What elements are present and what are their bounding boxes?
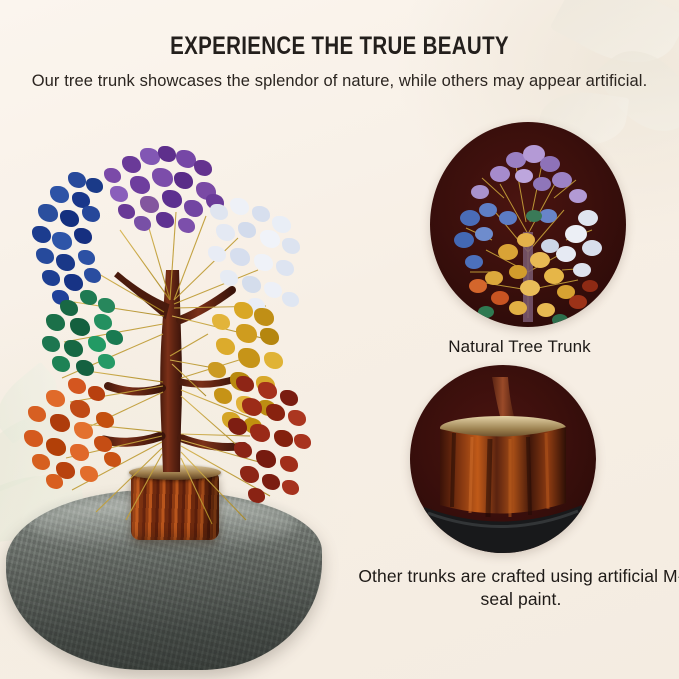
artificial-trunk-photo <box>410 365 596 553</box>
header-block: EXPERIENCE THE TRUE BEAUTY Our tree trun… <box>0 0 679 93</box>
gem-cluster-green-aventurine <box>36 290 134 382</box>
mini-gem-tree-illustration <box>430 122 626 327</box>
hero-product-photo <box>0 120 360 679</box>
gem-cluster-lapis-blue <box>28 172 128 302</box>
page-title: EXPERIENCE THE TRUE BEAUTY <box>61 0 618 61</box>
caption-artificial-trunk: Other trunks are crafted using artificia… <box>356 565 679 612</box>
caption-natural-trunk: Natural Tree Trunk <box>360 336 679 359</box>
page-subtitle: Our tree trunk showcases the splendor of… <box>0 61 679 93</box>
natural-trunk-photo <box>430 122 626 327</box>
comparison-column: Natural Tree Trunk <box>360 110 679 679</box>
gem-cluster-carnelian-orange <box>16 378 136 488</box>
gem-cluster-red-jasper <box>204 376 322 504</box>
painted-trunk-illustration <box>410 365 596 553</box>
gem-cluster-clear-quartz <box>204 198 308 318</box>
